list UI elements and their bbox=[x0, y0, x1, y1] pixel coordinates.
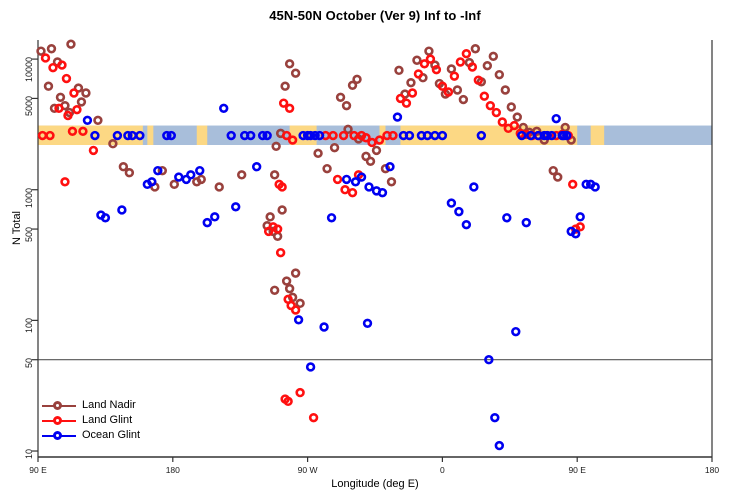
data-point bbox=[90, 147, 97, 154]
data-point bbox=[297, 389, 304, 396]
data-point bbox=[274, 233, 281, 240]
data-point bbox=[321, 324, 328, 331]
data-point bbox=[460, 96, 467, 103]
data-point bbox=[414, 57, 421, 64]
data-point bbox=[271, 171, 278, 178]
data-point bbox=[388, 178, 395, 185]
chart-figure: 45N-50N October (Ver 9) Inf to -Inf N To… bbox=[0, 0, 750, 500]
data-point bbox=[490, 53, 497, 60]
data-point bbox=[433, 66, 440, 73]
data-point bbox=[508, 104, 515, 111]
y-tick-label: 50 bbox=[24, 358, 34, 368]
data-point bbox=[148, 178, 155, 185]
data-point bbox=[364, 320, 371, 327]
data-point bbox=[394, 114, 401, 121]
data-point bbox=[295, 316, 302, 323]
data-point bbox=[499, 119, 506, 126]
data-point bbox=[328, 214, 335, 221]
data-point bbox=[366, 184, 373, 191]
data-point bbox=[463, 50, 470, 57]
data-point bbox=[95, 117, 102, 124]
legend-item-label: Land Nadir bbox=[82, 399, 136, 412]
data-point bbox=[503, 214, 510, 221]
data-point bbox=[310, 414, 317, 421]
data-point bbox=[427, 56, 434, 63]
data-point bbox=[514, 114, 521, 121]
data-point bbox=[354, 76, 361, 83]
data-point bbox=[62, 178, 69, 185]
data-point bbox=[577, 213, 584, 220]
legend-item-land-glint[interactable]: Land Glint bbox=[42, 413, 140, 428]
data-point bbox=[396, 67, 403, 74]
data-point bbox=[171, 181, 178, 188]
data-point bbox=[277, 249, 284, 256]
data-point bbox=[68, 41, 75, 48]
chart-legend: Land NadirLand GlintOcean Glint bbox=[42, 398, 140, 443]
data-point bbox=[469, 64, 476, 71]
data-point bbox=[120, 163, 127, 170]
legend-item-ocean-glint[interactable]: Ocean Glint bbox=[42, 428, 140, 443]
data-point bbox=[470, 184, 477, 191]
data-point bbox=[408, 79, 415, 86]
data-point bbox=[253, 163, 260, 170]
series-land-glint bbox=[39, 50, 584, 421]
data-point bbox=[484, 62, 491, 69]
data-point bbox=[496, 71, 503, 78]
data-point bbox=[448, 200, 455, 207]
data-point bbox=[426, 48, 433, 55]
data-point bbox=[196, 167, 203, 174]
data-point bbox=[84, 117, 91, 124]
legend-marker-icon bbox=[42, 414, 76, 427]
data-point bbox=[45, 83, 52, 90]
data-point bbox=[50, 64, 57, 71]
data-point bbox=[403, 100, 410, 107]
data-point bbox=[472, 45, 479, 52]
data-point bbox=[451, 73, 458, 80]
data-point bbox=[487, 102, 494, 109]
data-point bbox=[102, 214, 109, 221]
y-tick-label: 500 bbox=[24, 227, 34, 242]
legend-item-label: Ocean Glint bbox=[82, 429, 140, 442]
data-point bbox=[232, 203, 239, 210]
data-point bbox=[455, 208, 462, 215]
data-point bbox=[343, 176, 350, 183]
data-point bbox=[342, 186, 349, 193]
data-point bbox=[349, 189, 356, 196]
data-point bbox=[454, 87, 461, 94]
legend-item-label: Land Glint bbox=[82, 414, 132, 427]
data-point bbox=[267, 213, 274, 220]
data-point bbox=[38, 48, 45, 55]
data-point bbox=[283, 278, 290, 285]
data-point bbox=[273, 143, 280, 150]
data-point bbox=[569, 181, 576, 188]
data-point bbox=[286, 60, 293, 67]
y-tick-label: 10000 bbox=[24, 57, 34, 82]
data-point bbox=[367, 158, 374, 165]
y-tick-label: 100 bbox=[24, 318, 34, 333]
series-land-nadir bbox=[38, 41, 575, 307]
data-point bbox=[286, 285, 293, 292]
y-tick-label: 1000 bbox=[24, 188, 34, 208]
data-point bbox=[211, 213, 218, 220]
y-tick-label: 10 bbox=[24, 449, 34, 459]
legend-item-land-nadir[interactable]: Land Nadir bbox=[42, 398, 140, 413]
legend-marker-icon bbox=[42, 399, 76, 412]
data-point bbox=[577, 223, 584, 230]
data-point bbox=[292, 70, 299, 77]
data-point bbox=[379, 189, 386, 196]
data-point bbox=[457, 59, 464, 66]
data-point bbox=[216, 184, 223, 191]
data-point bbox=[279, 207, 286, 214]
data-point bbox=[175, 174, 182, 181]
data-point bbox=[463, 221, 470, 228]
legend-marker-icon bbox=[42, 429, 76, 442]
data-point bbox=[337, 94, 344, 101]
data-point bbox=[198, 176, 205, 183]
data-point bbox=[59, 62, 66, 69]
data-point bbox=[307, 364, 314, 371]
data-point bbox=[512, 328, 519, 335]
data-point bbox=[409, 90, 416, 97]
data-point bbox=[71, 90, 78, 97]
data-point bbox=[48, 45, 55, 52]
data-point bbox=[292, 307, 299, 314]
data-point bbox=[572, 230, 579, 237]
data-point bbox=[271, 287, 278, 294]
data-point bbox=[274, 226, 281, 233]
y-tick-label: 5000 bbox=[24, 96, 34, 116]
data-point bbox=[502, 87, 509, 94]
data-point bbox=[204, 219, 211, 226]
data-point bbox=[493, 109, 500, 116]
data-point bbox=[343, 102, 350, 109]
series-ocean-glint bbox=[84, 105, 599, 449]
data-point bbox=[387, 163, 394, 170]
data-point bbox=[324, 165, 331, 172]
data-point bbox=[187, 171, 194, 178]
data-point bbox=[57, 94, 64, 101]
data-point bbox=[511, 122, 518, 129]
data-point bbox=[286, 105, 293, 112]
data-point bbox=[523, 219, 530, 226]
data-point bbox=[297, 300, 304, 307]
data-point bbox=[448, 66, 455, 73]
data-point bbox=[282, 83, 289, 90]
data-point bbox=[78, 99, 85, 106]
data-point bbox=[592, 184, 599, 191]
data-point bbox=[481, 93, 488, 100]
data-point bbox=[331, 144, 338, 151]
plot-frame bbox=[38, 40, 712, 457]
data-point bbox=[63, 75, 70, 82]
data-point bbox=[334, 176, 341, 183]
data-point bbox=[554, 174, 561, 181]
data-point bbox=[238, 171, 245, 178]
data-point bbox=[496, 442, 503, 449]
data-point bbox=[83, 90, 90, 97]
data-point bbox=[373, 147, 380, 154]
data-point bbox=[118, 207, 125, 214]
data-point bbox=[220, 105, 227, 112]
data-point bbox=[553, 115, 560, 122]
data-point bbox=[74, 106, 81, 113]
data-point bbox=[315, 150, 322, 157]
data-point bbox=[292, 270, 299, 277]
data-point bbox=[415, 71, 422, 78]
data-point bbox=[126, 169, 133, 176]
data-point bbox=[42, 55, 49, 62]
data-point bbox=[491, 414, 498, 421]
